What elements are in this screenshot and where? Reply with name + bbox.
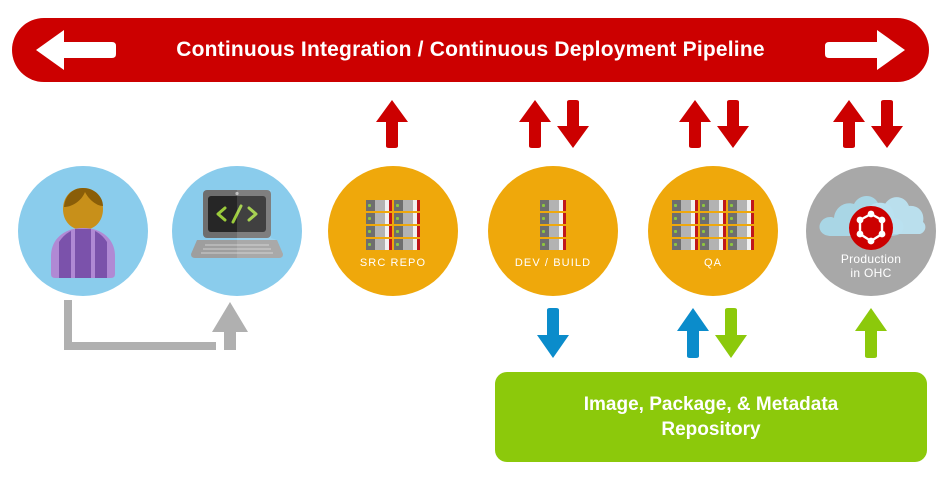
server-rack-icon [672,200,754,250]
arrow-up-qa-repo-icon [676,308,710,358]
server-rack-icon [540,200,566,250]
node-label-production-line1: Production [806,252,936,266]
person-icon [41,186,125,278]
arrow-down-qa-icon [716,100,750,148]
feedback-loop-arrow-icon [60,300,250,362]
arrow-up-dev-build-icon [518,100,552,148]
pipeline-banner: Continuous Integration / Continuous Depl… [12,18,929,82]
node-dev-build[interactable]: DEV / BUILD [488,166,618,296]
arrow-up-src-repo-icon [375,100,409,148]
node-qa[interactable]: QA [648,166,778,296]
node-label-src-repo: SRC REPO [328,257,458,270]
repository-box[interactable]: Image, Package, & Metadata Repository [495,372,927,462]
node-workstation[interactable] [172,166,302,296]
node-label-dev-build: DEV / BUILD [488,257,618,270]
repository-label: Image, Package, & Metadata Repository [584,392,839,442]
pipeline-banner-title: Continuous Integration / Continuous Depl… [176,38,765,62]
node-developer[interactable] [18,166,148,296]
arrow-up-production-repo-icon [854,308,888,358]
node-label-qa: QA [648,257,778,270]
cicd-pipeline-diagram: Continuous Integration / Continuous Depl… [0,0,941,500]
arrow-down-production-icon [870,100,904,148]
arrow-up-production-icon [832,100,866,148]
arrow-down-dev-build-icon [556,100,590,148]
server-rack-icon [366,200,420,250]
arrow-right-icon [825,28,907,72]
arrow-left-icon [34,28,116,72]
repository-label-line1: Image, Package, & Metadata [584,392,839,417]
node-production[interactable]: Production in OHC [806,166,936,296]
arrow-down-dev-build-repo-icon [536,308,570,358]
arrow-up-qa-icon [678,100,712,148]
node-src-repo[interactable]: SRC REPO [328,166,458,296]
cloud-openshift-icon [815,180,927,254]
repository-label-line2: Repository [584,417,839,442]
node-label-production: Production in OHC [806,252,936,280]
node-label-production-line2: in OHC [806,266,936,280]
laptop-code-icon [191,188,283,260]
arrow-down-qa-repo-icon [714,308,748,358]
